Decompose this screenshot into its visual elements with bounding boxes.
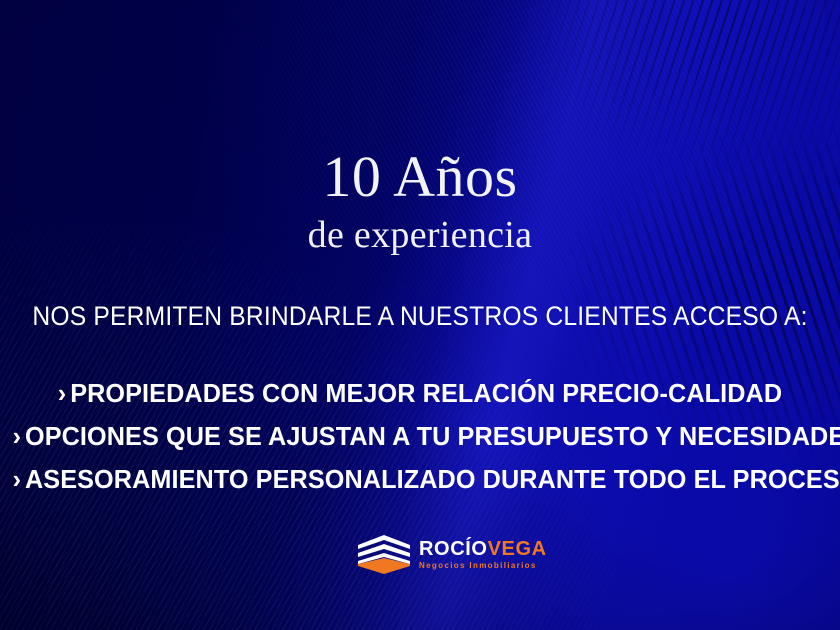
chevron-right-icon: › (13, 421, 22, 451)
benefits-list: ›PROPIEDADES CON MEJOR RELACIÓN PRECIO-C… (0, 380, 840, 509)
list-item: ›OPCIONES QUE SE AJUSTAN A TU PRESUPUEST… (13, 423, 828, 449)
chevron-right-icon: › (58, 378, 67, 408)
list-item-label: PROPIEDADES CON MEJOR RELACIÓN PRECIO-CA… (70, 378, 782, 408)
list-item-label: ASESORAMIENTO PERSONALIZADO DURANTE TODO… (25, 464, 840, 494)
logo-word-secondary: VEGA (488, 538, 547, 560)
logo-tagline: Negocios Inmobiliarios (419, 562, 547, 570)
headline-years: 10 Años (0, 148, 840, 206)
list-item-label: OPCIONES QUE SE AJUSTAN A TU PRESUPUESTO… (25, 421, 840, 451)
slide-content: 10 Años de experiencia NOS PERMITEN BRIN… (0, 0, 840, 630)
list-item: ›ASESORAMIENTO PERSONALIZADO DURANTE TOD… (13, 466, 828, 492)
logo-hexagon-icon (356, 533, 412, 575)
headline-subtitle: de experiencia (0, 212, 840, 260)
headline-block: 10 Años de experiencia (0, 148, 840, 260)
list-item: ›PROPIEDADES CON MEJOR RELACIÓN PRECIO-C… (13, 380, 828, 406)
logo-word-primary: ROCÍO (419, 538, 488, 560)
lead-statement: NOS PERMITEN BRINDARLE A NUESTROS CLIENT… (29, 302, 810, 331)
logo-wordmark: ROCÍOVEGA (419, 539, 547, 559)
logo-text-block: ROCÍOVEGA Negocios Inmobiliarios (419, 539, 547, 570)
chevron-right-icon: › (13, 464, 22, 494)
brand-logo: ROCÍOVEGA Negocios Inmobiliarios (356, 531, 516, 577)
promo-slide: 10 Años de experiencia NOS PERMITEN BRIN… (0, 0, 840, 630)
